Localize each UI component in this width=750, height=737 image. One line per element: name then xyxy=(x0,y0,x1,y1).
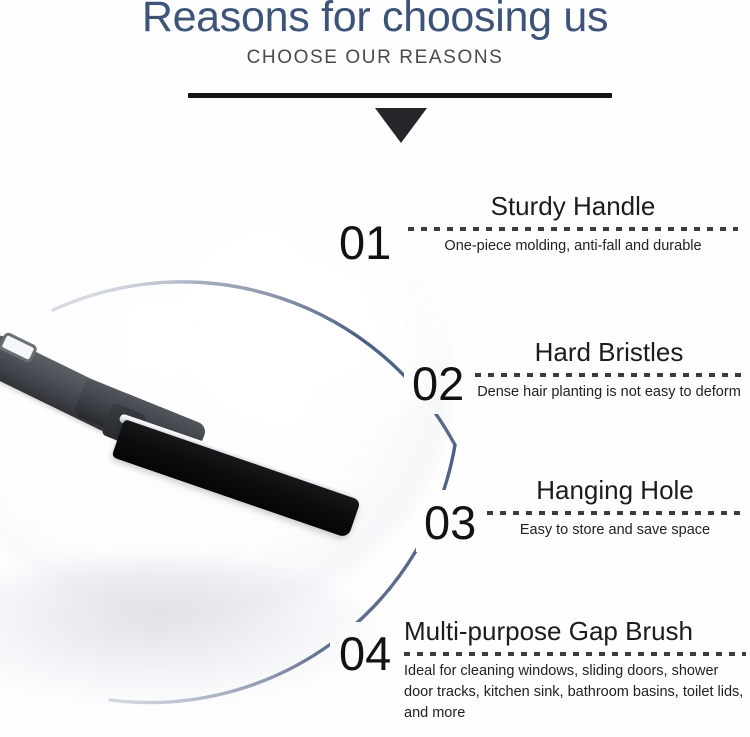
feature-description-04: Ideal for cleaning windows, sliding door… xyxy=(404,661,746,724)
feature-number-01: 01 xyxy=(339,219,391,266)
infographic-canvas: Reasons for choosing us CHOOSE OUR REASO… xyxy=(0,0,750,737)
feature-description-02: Dense hair planting is not easy to defor… xyxy=(475,382,743,403)
down-triangle-icon xyxy=(375,108,427,143)
feature-number-02: 02 xyxy=(412,360,464,407)
feature-title-04: Multi-purpose Gap Brush xyxy=(404,616,746,646)
product-image xyxy=(0,300,380,580)
header-divider xyxy=(188,93,612,98)
feature-dotted-divider-04 xyxy=(404,652,746,656)
brush-bristle-head xyxy=(111,419,360,538)
feature-number-03: 03 xyxy=(424,499,476,546)
feature-title-02: Hard Bristles xyxy=(475,337,743,367)
header: Reasons for choosing us CHOOSE OUR REASO… xyxy=(0,0,750,69)
feature-dotted-divider-02 xyxy=(475,373,743,377)
feature-block-03: Hanging Hole Easy to store and save spac… xyxy=(487,475,743,541)
feature-block-04: Multi-purpose Gap Brush Ideal for cleani… xyxy=(404,616,746,724)
feature-description-03: Easy to store and save space xyxy=(487,520,743,541)
feature-dotted-divider-01 xyxy=(408,227,738,231)
feature-dotted-divider-03 xyxy=(487,511,743,515)
feature-number-04: 04 xyxy=(339,630,391,677)
feature-block-02: Hard Bristles Dense hair planting is not… xyxy=(475,337,743,403)
feature-block-01: Sturdy Handle One-piece molding, anti-fa… xyxy=(408,191,738,257)
page-subtitle: CHOOSE OUR REASONS xyxy=(0,47,750,69)
feature-title-01: Sturdy Handle xyxy=(408,191,738,221)
feature-description-01: One-piece molding, anti-fall and durable xyxy=(408,236,738,257)
page-title: Reasons for choosing us xyxy=(0,0,750,40)
feature-title-03: Hanging Hole xyxy=(487,475,743,505)
